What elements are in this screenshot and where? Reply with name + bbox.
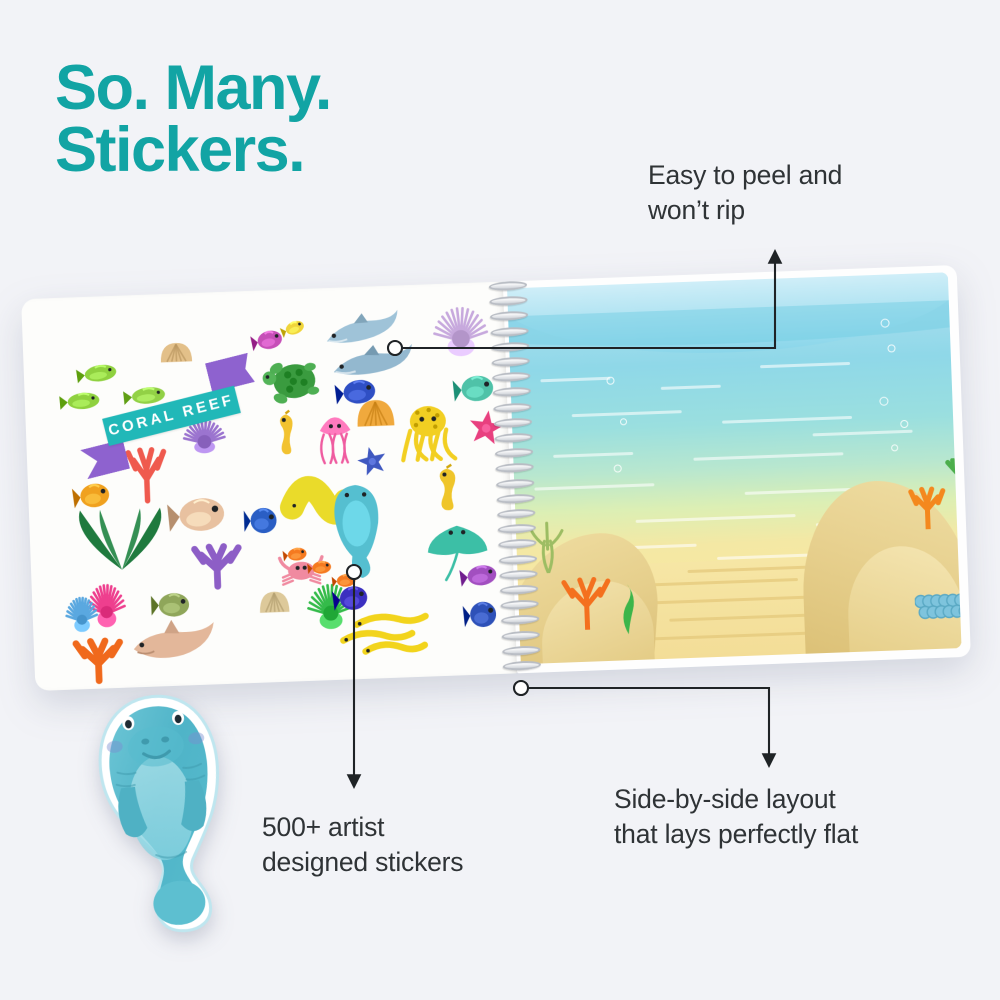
callout-line-peel: [403, 252, 775, 348]
callout-peel-line-2: won’t rip: [648, 193, 842, 228]
callout-anchor-count: [347, 565, 361, 579]
callout-count-line-2: designed stickers: [262, 845, 463, 880]
callout-peel: Easy to peel and won’t rip: [648, 158, 842, 228]
callout-peel-line-1: Easy to peel and: [648, 158, 842, 193]
callout-anchor-flat: [514, 681, 528, 695]
callout-count: 500+ artist designed stickers: [262, 810, 463, 880]
callout-line-flat: [529, 688, 769, 765]
callout-flat-line-2: that lays perfectly flat: [614, 817, 858, 852]
callout-flat-line-1: Side-by-side layout: [614, 782, 858, 817]
callout-flat: Side-by-side layout that lays perfectly …: [614, 782, 858, 852]
marketing-graphic: So. Many. Stickers. CORAL REEF: [0, 0, 1000, 1000]
callout-count-line-1: 500+ artist: [262, 810, 463, 845]
callout-anchor-peel: [388, 341, 402, 355]
